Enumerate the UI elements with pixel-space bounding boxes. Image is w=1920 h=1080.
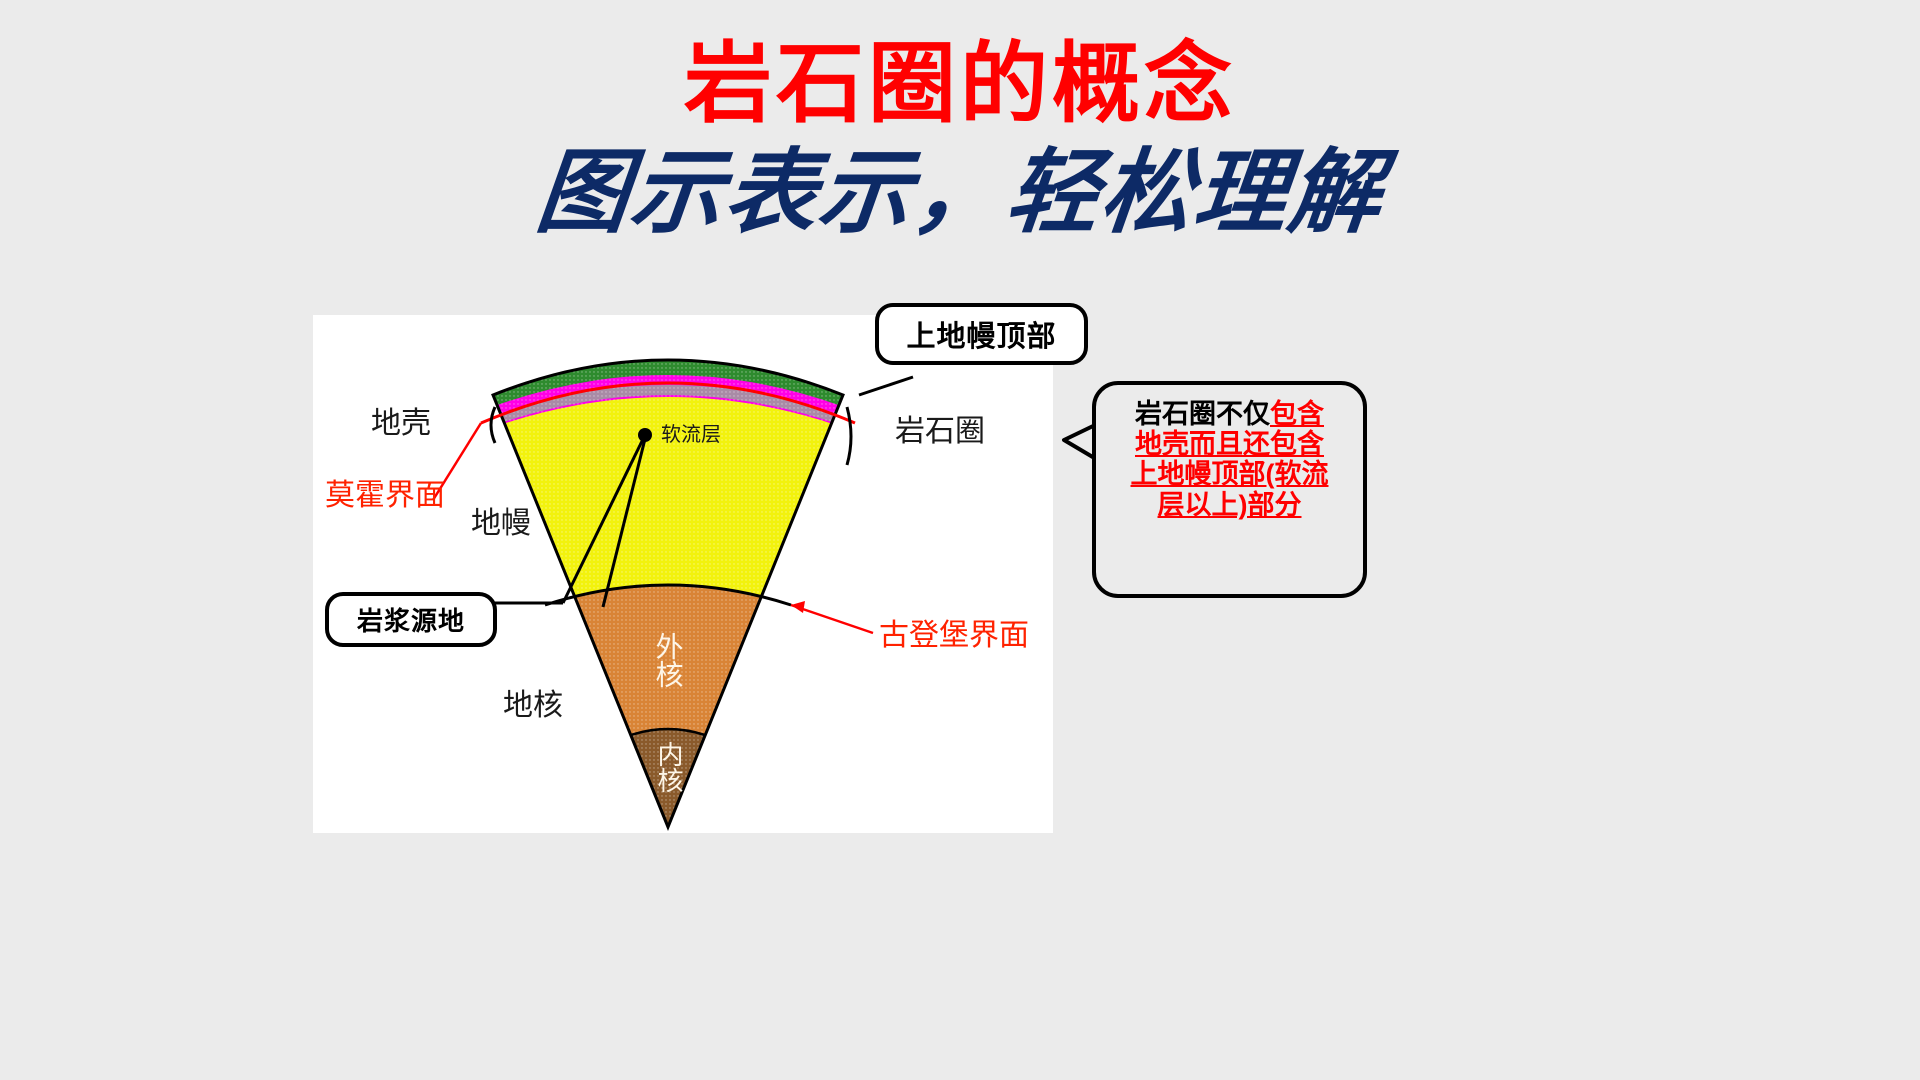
page-title-line1: 岩石圈的概念 — [0, 38, 1920, 130]
lithosphere-bracket — [847, 407, 851, 465]
diagram-svg: 地壳 莫霍界面 地幔 软流层 岩石圈 古登堡界面 地核 外核 内核 — [313, 315, 1053, 833]
label-inner-core: 内核 — [653, 741, 683, 793]
callout-upper-mantle-top[interactable]: 上地幔顶部 — [875, 303, 1088, 365]
earth-cross-section-diagram: 地壳 莫霍界面 地幔 软流层 岩石圈 古登堡界面 地核 外核 内核 — [313, 315, 1053, 833]
label-gutenberg: 古登堡界面 — [879, 618, 1029, 653]
callout-magma-label: 岩浆源地 — [357, 601, 465, 638]
label-core: 地核 — [503, 688, 563, 723]
bubble-segment-1: 岩石圈不仅 — [1135, 399, 1270, 429]
callout-upper-mantle-label: 上地幔顶部 — [906, 313, 1056, 355]
title-block: 岩石圈的概念 图示表示，轻松理解 — [0, 38, 1920, 246]
upper-mantle-leader-line — [859, 377, 913, 395]
bubble-segment-2: 包含 — [1270, 399, 1324, 429]
crust-bracket — [491, 407, 495, 443]
label-asthenosphere: 软流层 — [661, 422, 721, 446]
bubble-segment-3: 地壳而且还包含 — [1135, 429, 1324, 459]
label-crust: 地壳 — [371, 406, 431, 441]
bubble-segment-5: 层以上)部分 — [1158, 490, 1302, 520]
speech-bubble-lithosphere-note[interactable]: 岩石圈不仅包含 地壳而且还包含 上地幔顶部(软流 层以上)部分 — [1092, 381, 1367, 598]
label-moho: 莫霍界面 — [325, 478, 445, 513]
speech-bubble-text: 岩石圈不仅包含 地壳而且还包含 上地幔顶部(软流 层以上)部分 — [1108, 399, 1351, 520]
label-outer-core: 外核 — [652, 632, 685, 688]
label-mantle: 地幔 — [471, 506, 531, 541]
page-title-line2: 图示表示，轻松理解 — [0, 140, 1920, 246]
bubble-segment-4: 上地幔顶部(软流 — [1131, 459, 1329, 489]
label-lithosphere: 岩石圈 — [895, 414, 985, 449]
callout-magma-source[interactable]: 岩浆源地 — [325, 592, 497, 647]
